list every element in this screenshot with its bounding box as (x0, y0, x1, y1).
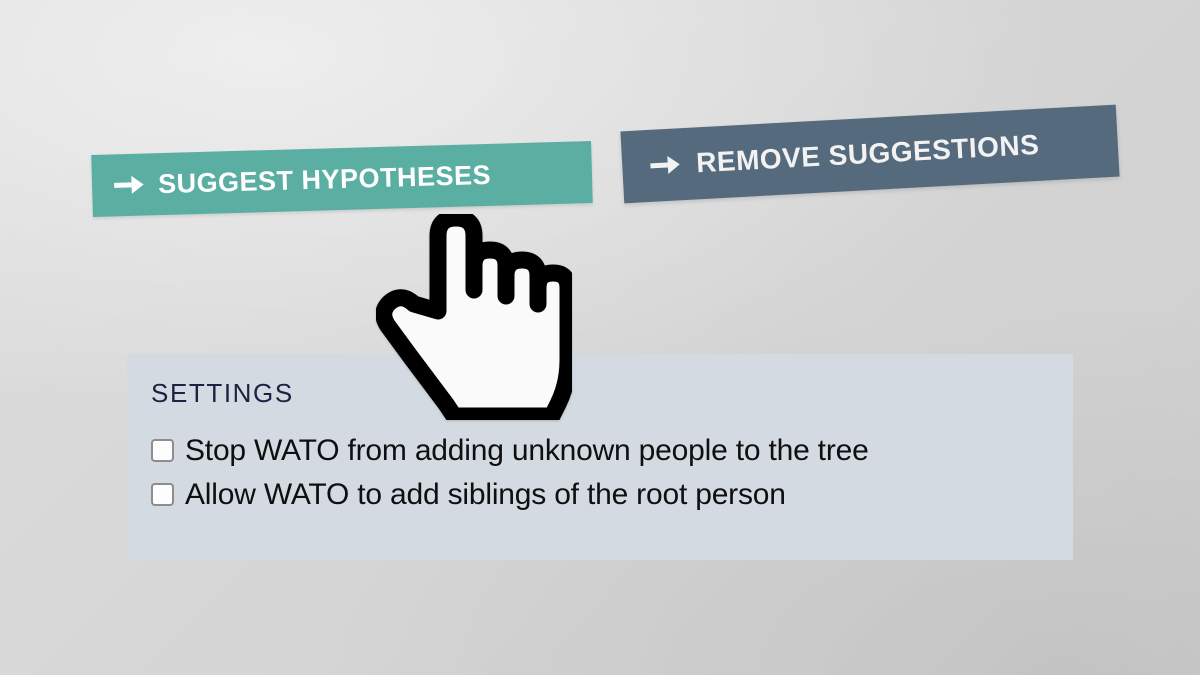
settings-panel: SETTINGS Stop WATO from adding unknown p… (127, 354, 1073, 560)
suggest-hypotheses-button[interactable]: SUGGEST HYPOTHESES (91, 141, 593, 217)
setting-label-allow-siblings: Allow WATO to add siblings of the root p… (185, 479, 786, 511)
arrow-right-icon (650, 152, 681, 178)
remove-suggestions-label: REMOVE SUGGESTIONS (695, 131, 1040, 178)
background-sheen (0, 0, 1200, 675)
checkbox-allow-siblings[interactable] (151, 483, 174, 506)
checkbox-stop-unknown-people[interactable] (151, 439, 174, 462)
setting-label-stop-unknown-people: Stop WATO from adding unknown people to … (185, 435, 869, 467)
remove-suggestions-button[interactable]: REMOVE SUGGESTIONS (620, 105, 1119, 204)
suggest-hypotheses-label: SUGGEST HYPOTHESES (158, 161, 492, 197)
setting-row-stop-unknown-people[interactable]: Stop WATO from adding unknown people to … (151, 435, 1073, 467)
setting-row-allow-siblings[interactable]: Allow WATO to add siblings of the root p… (151, 479, 1073, 511)
arrow-right-icon (114, 173, 145, 198)
settings-heading: SETTINGS (151, 378, 1073, 409)
